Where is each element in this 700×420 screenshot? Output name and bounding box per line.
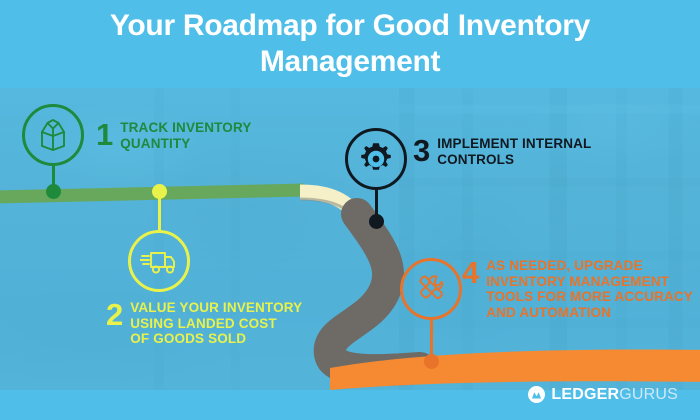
step-2-line-1: Value Your Inventory [130, 300, 302, 316]
step-2-label: Value Your Inventory Using Landed Cost O… [130, 300, 302, 347]
step-2[interactable]: 2 Value Your Inventory Using Landed Cost… [128, 230, 190, 292]
step-4[interactable]: 4 As Needed, Upgrade Inventory Managemen… [400, 258, 462, 320]
step-4-text: 4 As Needed, Upgrade Inventory Managemen… [462, 258, 693, 320]
step-3-label: Implement Internal Controls [437, 136, 591, 167]
logo-word-gurus: GURUS [619, 386, 678, 403]
step-4-line-2: Inventory Management [486, 274, 693, 290]
step-3-line-2: Controls [437, 152, 591, 168]
ledgergurus-logo[interactable]: LEDGERGURUS [528, 386, 678, 403]
step-4-line-1: As Needed, Upgrade [486, 258, 693, 274]
open-box-icon [22, 104, 84, 166]
step-1-line-1: Track Inventory [120, 120, 251, 136]
step-3-number: 3 [413, 136, 430, 165]
header-band: Your Roadmap for Good Inventory Manageme… [0, 0, 700, 88]
delivery-truck-icon [128, 230, 190, 292]
step-3[interactable]: 3 Implement Internal Controls [345, 128, 407, 190]
step-1-label: Track Inventory Quantity [120, 120, 251, 151]
ledgergurus-mountain-icon [528, 386, 545, 403]
wrench-screwdriver-icon [400, 258, 462, 320]
page-title: Your Roadmap for Good Inventory Manageme… [30, 8, 670, 80]
step-2-line-2: Using Landed Cost [130, 316, 302, 332]
infographic-poster: Your Roadmap for Good Inventory Manageme… [0, 0, 700, 420]
step-3-line-1: Implement Internal [437, 136, 591, 152]
step-4-number: 4 [462, 258, 479, 287]
step-2-number: 2 [106, 300, 123, 329]
ledgergurus-wordmark: LEDGERGURUS [551, 386, 678, 403]
step-2-line-3: Of Goods Sold [130, 331, 302, 347]
step-2-text: 2 Value Your Inventory Using Landed Cost… [106, 300, 302, 347]
step-4-line-3: Tools For More Accuracy [486, 289, 693, 305]
step-2-dot [152, 184, 167, 199]
step-1-line-2: Quantity [120, 136, 251, 152]
step-4-dot [424, 354, 439, 369]
step-4-line-4: And Automation [486, 305, 693, 321]
step-4-label: As Needed, Upgrade Inventory Management … [486, 258, 693, 320]
step-1-dot [46, 184, 61, 199]
gear-icon [345, 128, 407, 190]
step-1-number: 1 [96, 120, 113, 149]
step-1[interactable]: 1 Track Inventory Quantity [22, 104, 84, 166]
step-1-text: 1 Track Inventory Quantity [96, 120, 252, 151]
logo-word-ledger: LEDGER [551, 386, 619, 403]
step-3-dot [369, 214, 384, 229]
step-3-text: 3 Implement Internal Controls [413, 136, 591, 167]
